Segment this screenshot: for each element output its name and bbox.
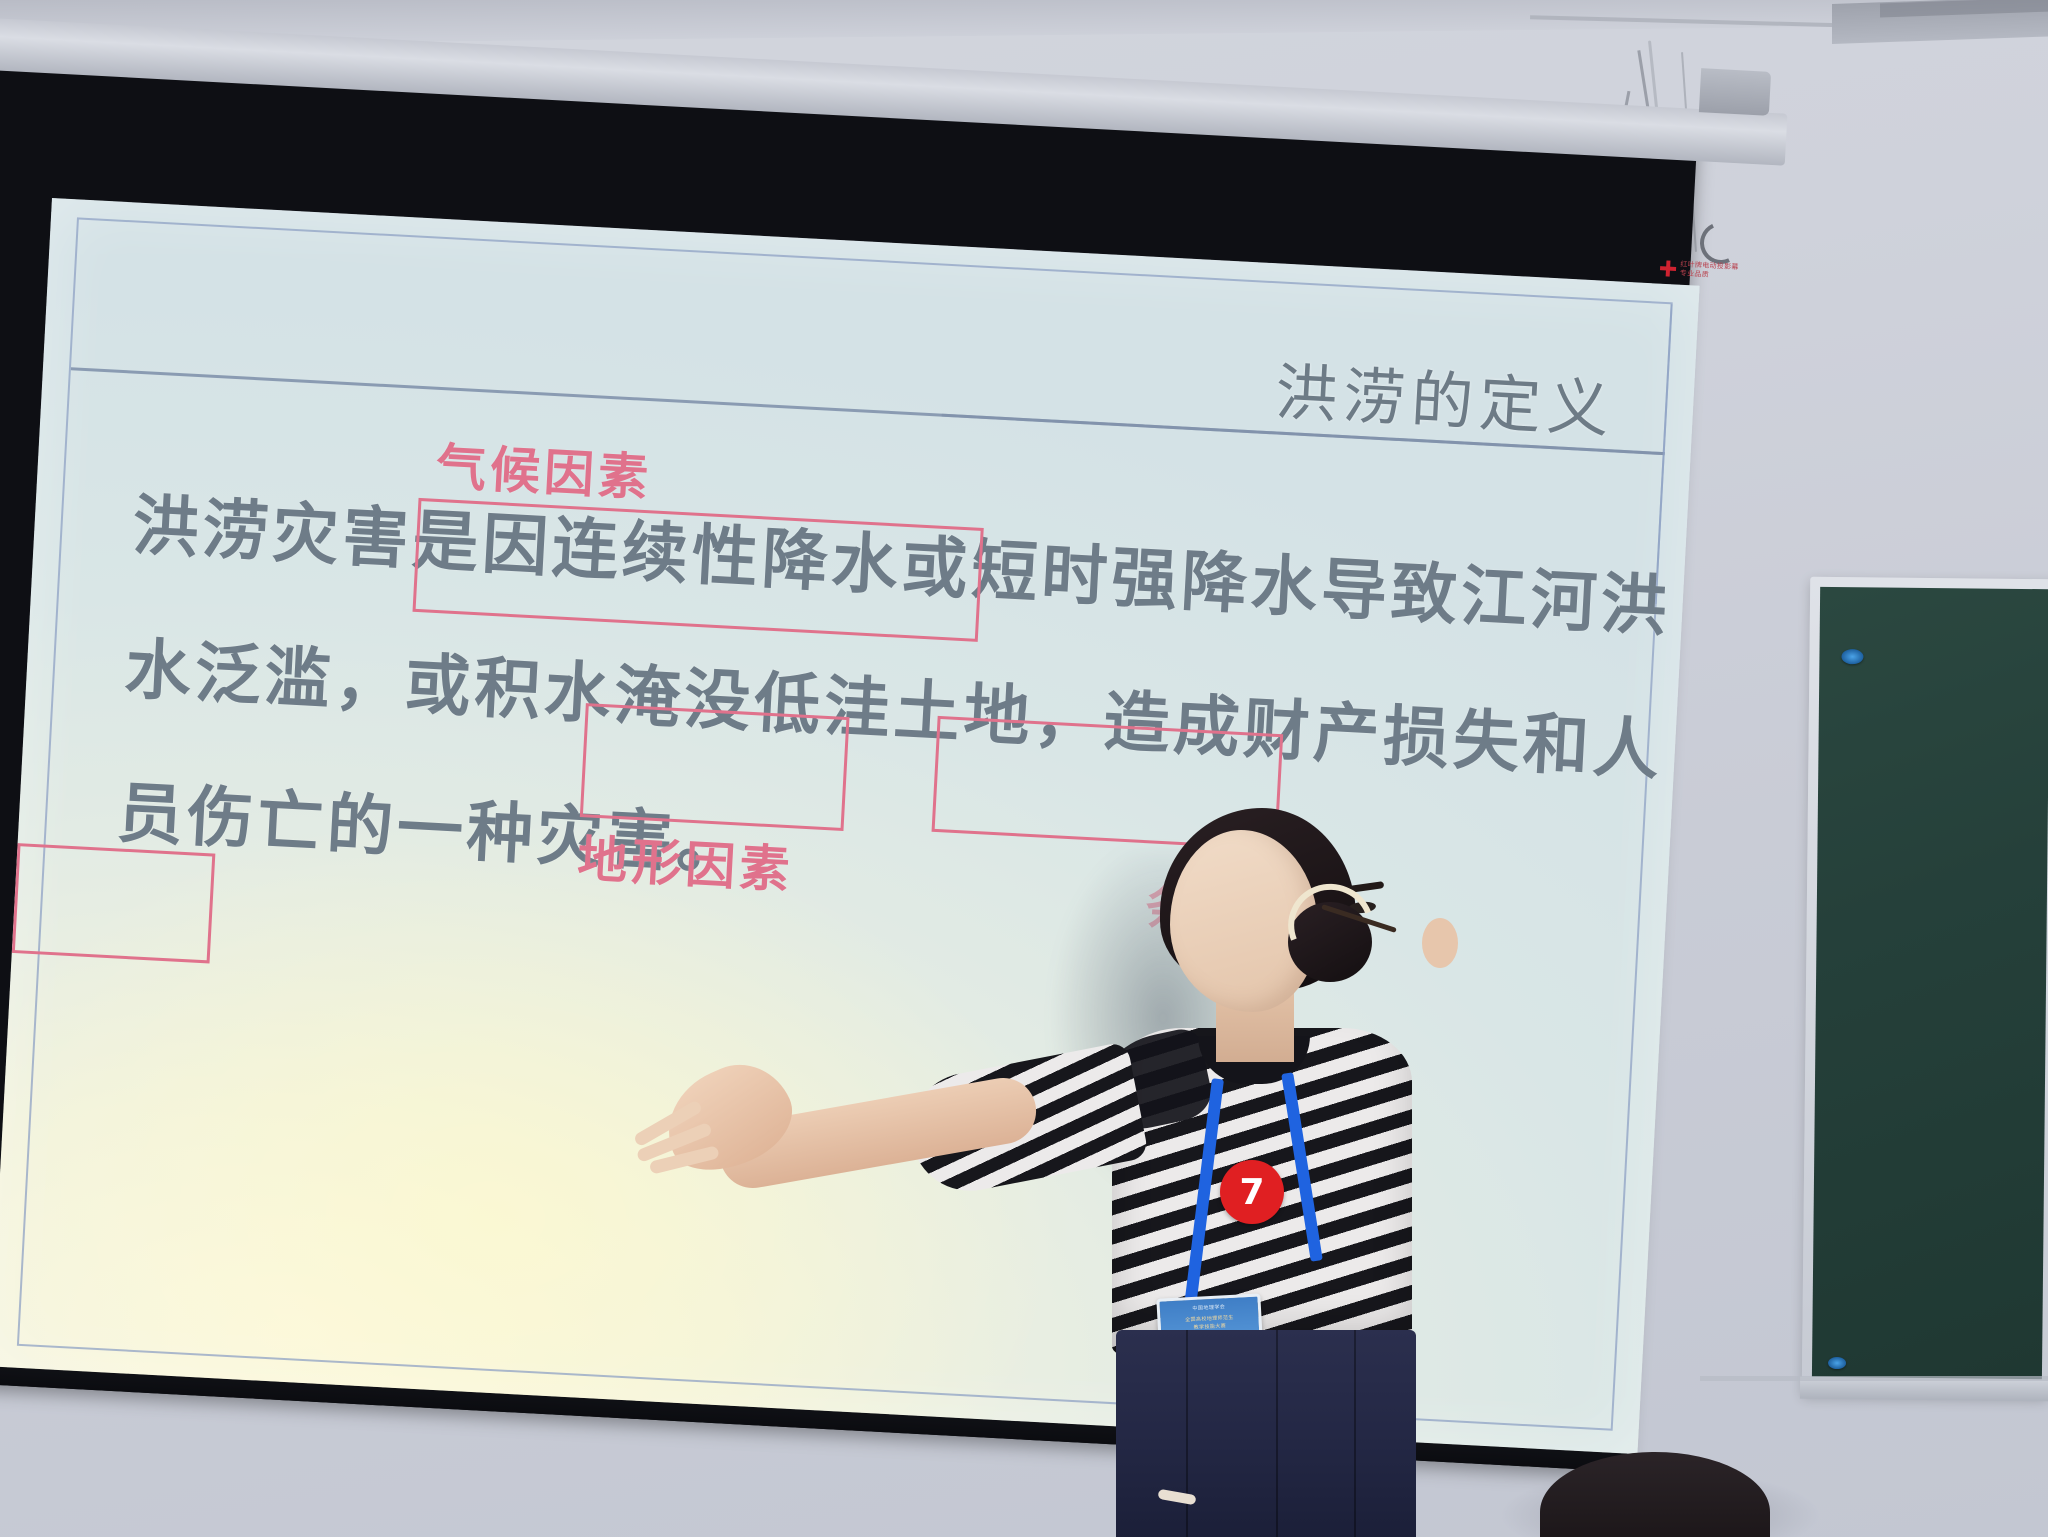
slide-body-line-2: 水泛滥，或积水淹没低洼土地，造成财产损失和人 <box>123 637 1616 782</box>
skirt-seam-1 <box>1186 1330 1188 1537</box>
magnet-icon-bottom[interactable] <box>1828 1357 1846 1369</box>
classroom-photo: 洪涝的定义 洪涝灾害是因连续性降水或短时强降水导致江河洪 水泛滥，或积水淹没低洼… <box>0 0 2048 1537</box>
magnet-icon-top[interactable] <box>1841 649 1863 664</box>
projector-screen-roller-end-cap <box>1699 68 1771 116</box>
red-cross-icon <box>1660 260 1677 277</box>
skirt-seam-2 <box>1276 1330 1278 1537</box>
annotation-label-climate: 气候因素 <box>435 427 655 510</box>
presenter-number-badge: 7 <box>1220 1160 1284 1224</box>
blackboard-frame <box>1802 577 2048 1398</box>
blackboard-surface <box>1812 587 2048 1385</box>
id-card-event-line-1: 全国高校地理师范生 <box>1185 1315 1234 1324</box>
presenter-skirt <box>1116 1330 1416 1537</box>
projected-slide: 洪涝的定义 洪涝灾害是因连续性降水或短时强降水导致江河洪 水泛滥，或积水淹没低洼… <box>0 198 1700 1454</box>
annotation-label-terrain: 地形因素 <box>576 819 796 902</box>
roller-brand-text: 红叶牌电动投影幕 专业品质 <box>1680 260 1739 281</box>
id-card-org: 中国地理学会 <box>1160 1302 1258 1314</box>
wall-seam-line <box>1700 1376 2048 1381</box>
skirt-seam-3 <box>1354 1330 1356 1537</box>
presenter: 7 中国地理学会 全国高校地理师范生 教学技能大赛 选手证 <box>1020 830 1440 1537</box>
presenter-ear <box>1422 918 1458 968</box>
